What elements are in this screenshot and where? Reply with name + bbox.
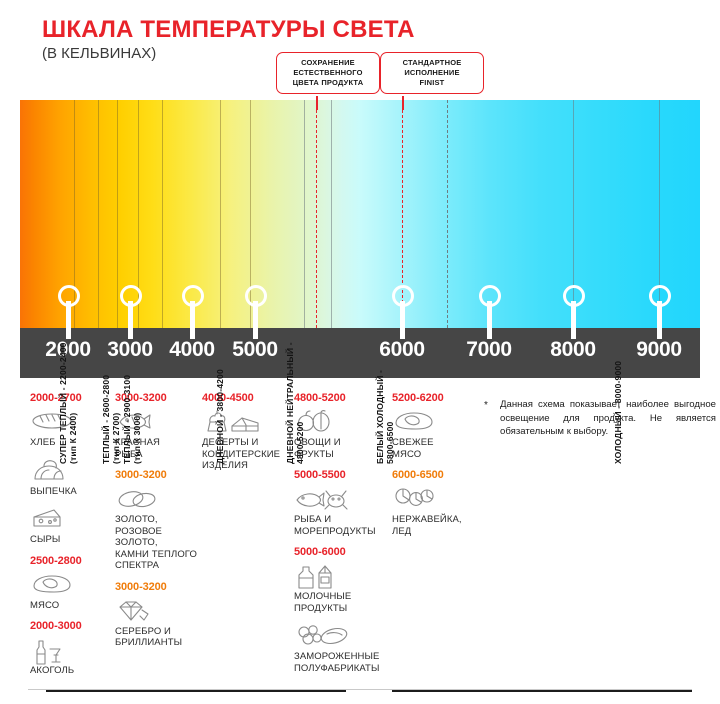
fresh-meat-icon [392,409,476,435]
scale-divider [304,100,305,328]
scale-label-line2: (тип К 2700) [111,375,121,464]
legend-item-label: НЕРЖАВЕЙКА, ЛЕД [392,514,476,537]
scale-divider-dashed [447,100,449,328]
scale-divider [220,100,221,328]
legend-item: ЗАМОРОЖЕННЫЕ ПОЛУФАБРИКАТЫ [294,623,386,674]
legend-column-col-4: 4800-5200ОВОЩИ И ФРУКТЫ5000-5500РЫБА И М… [294,392,386,683]
callout-finist-standard: СТАНДАРТНОЕИСПОЛНЕНИЕFINIST [380,52,484,94]
legend-group: 4800-5200ОВОЩИ И ФРУКТЫ [294,392,386,460]
scale-label-line1: СУПЕР ТЕПЛЫЙ - 2200-2400 [58,342,68,464]
scale-label-line2: 4800-5200 [295,342,305,464]
legend-item: АКОГОЛЬ [30,637,106,677]
footnote-star: * [484,399,488,413]
legend-item: СЕРЕБРО И БРИЛЛИАНТЫ [115,598,199,649]
legend-item-label: ОВОЩИ И ФРУКТЫ [294,437,386,460]
seafood-icon [294,486,386,512]
scale-label-line1: БЕЛЫЙ ХОЛОДНЫЙ - [375,370,385,464]
legend-item: ОВОЩИ И ФРУКТЫ [294,409,386,460]
scale-label-line2: (тип К 2400) [68,342,78,464]
legend-item-label: АКОГОЛЬ [30,665,106,677]
tick-ring [649,285,671,307]
scale-label-line1: ХОЛОДНЫЙ - 8000-9000 [613,361,623,464]
scale-label-line2: 5800-6500 [385,370,395,464]
kelvin-label-5000: 5000 [232,338,278,362]
kelvin-label-3000: 3000 [107,338,153,362]
legend-item: ЗОЛОТО, РОЗОВОЕ ЗОЛОТО, КАМНИ ТЕПЛОГО СП… [115,486,199,572]
legend-item: МЯСО [30,572,106,612]
tick-ring [58,285,80,307]
legend-group: 2000-3000АКОГОЛЬ [30,620,106,677]
page-subtitle: (В КЕЛЬВИНАХ) [42,45,156,62]
scale-marker-natural-color [316,100,318,328]
kelvin-label-4000: 4000 [169,338,215,362]
legend-item-label: МОЛОЧНЫЕ ПРОДУКТЫ [294,591,386,614]
legend-item: РЫБА И МОРЕПРОДУКТЫ [294,486,386,537]
legend-item-label: СЫРЫ [30,534,106,546]
scale-label-line1: ТЕПЛЫЙ - 2600-2800 [101,375,111,464]
tick-ring [392,285,414,307]
legend-range-label: 2500-2800 [30,555,106,567]
legend-item-label: ВЫПЕЧКА [30,486,106,498]
legend-item: МОЛОЧНЫЕ ПРОДУКТЫ [294,563,386,614]
callout-line: ЦВЕТА ПРОДУКТА [284,78,372,88]
kelvin-axis-bar: 20003000400050006000700080009000 [20,328,700,378]
callout-line: ЕСТЕСТВЕННОГО [284,68,372,78]
legend-item: СЫРЫ [30,506,106,546]
scale-label-line1: ТЕПЛЫЙ - 2900-3100 [122,375,132,464]
bottom-divider-left [46,690,346,692]
legend-item-label: РЫБА И МОРЕПРОДУКТЫ [294,514,386,537]
kelvin-label-9000: 9000 [636,338,682,362]
legend-group: 6000-6500НЕРЖАВЕЙКА, ЛЕД [392,469,476,537]
tick-ring [245,285,267,307]
callout-line: СТАНДАРТНОЕ [388,58,476,68]
diamond-icon [115,598,199,624]
alcohol-icon [30,637,106,663]
tick-ring [120,285,142,307]
legend-range-label: 3000-3200 [115,581,199,593]
legend-group: 3000-3200СЕРЕБРО И БРИЛЛИАНТЫ [115,581,199,649]
legend-item-label: ЗОЛОТО, РОЗОВОЕ ЗОЛОТО, КАМНИ ТЕПЛОГО СП… [115,514,199,572]
scale-divider [117,100,118,328]
scale-label-line2: (тип К 3000) [132,375,142,464]
legend-range-label: 3000-3200 [115,469,199,481]
legend-item: СВЕЖЕЕ МЯСО [392,409,476,460]
legend-group: 3000-3200ЗОЛОТО, РОЗОВОЕ ЗОЛОТО, КАМНИ Т… [115,469,199,572]
legend-item-label: СВЕЖЕЕ МЯСО [392,437,476,460]
legend-group: 5200-6200СВЕЖЕЕ МЯСО [392,392,476,460]
tick-ring [563,285,585,307]
callout-line: FINIST [388,78,476,88]
gold-rings-icon [115,486,199,512]
callout-line: СОХРАНЕНИЕ [284,58,372,68]
legend-range-label: 5200-6200 [392,392,476,404]
legend-range-label: 6000-6500 [392,469,476,481]
kelvin-label-7000: 7000 [466,338,512,362]
callout-natural-color: СОХРАНЕНИЕЕСТЕСТВЕННОГОЦВЕТА ПРОДУКТА [276,52,380,94]
scale-label-line1: ДНЕВНОЙ - 3800-4200 [215,369,225,464]
vegetables-icon [294,409,386,435]
kelvin-label-6000: 6000 [379,338,425,362]
color-temperature-scale: СУПЕР ТЕПЛЫЙ - 2200-2400(тип К 2400)ТЕПЛ… [20,100,700,328]
footnote-text: Данная схема показывает наиболее выгодно… [500,398,716,439]
bottom-divider-right [392,690,692,692]
tick-ring [479,285,501,307]
infographic-root: ШКАЛА ТЕМПЕРАТУРЫ СВЕТА (В КЕЛЬВИНАХ) СО… [0,0,720,704]
page-title: ШКАЛА ТЕМПЕРАТУРЫ СВЕТА [42,16,415,44]
legend-range-label: 5000-5500 [294,469,386,481]
scale-divider [98,100,99,328]
legend-range-label: 2000-3000 [30,620,106,632]
callout-stem-natural-color [316,96,318,110]
legend-item-label: МЯСО [30,600,106,612]
scale-divider [162,100,163,328]
legend-item-label: ЗАМОРОЖЕННЫЕ ПОЛУФАБРИКАТЫ [294,651,386,674]
frozen-food-icon [294,623,386,649]
scale-divider [331,100,332,328]
tick-ring [182,285,204,307]
callout-stem-finist-standard [402,96,404,110]
legend-group: 2500-2800МЯСО [30,555,106,612]
kelvin-label-8000: 8000 [550,338,596,362]
scale-label-line1: ДНЕВНОЙ НЕЙТРАЛЬНЫЙ - [285,342,295,464]
legend-group: 5000-5500РЫБА И МОРЕПРОДУКТЫ [294,469,386,537]
footnote: * Данная схема показывает наиболее выгод… [484,398,716,439]
legend-range-label: 4800-5200 [294,392,386,404]
legend-item-label: СЕРЕБРО И БРИЛЛИАНТЫ [115,626,199,649]
legend-item: НЕРЖАВЕЙКА, ЛЕД [392,486,476,537]
legend-column-col-5: 5200-6200СВЕЖЕЕ МЯСО6000-6500НЕРЖАВЕЙКА,… [392,392,476,546]
callout-line: ИСПОЛНЕНИЕ [388,68,476,78]
meat-icon [30,572,106,598]
legend-group: 5000-6000МОЛОЧНЫЕ ПРОДУКТЫЗАМОРОЖЕННЫЕ П… [294,546,386,674]
legend-range-label: 5000-6000 [294,546,386,558]
cheese-icon [30,506,106,532]
dairy-icon [294,563,386,589]
stainless-ice-icon [392,486,476,512]
